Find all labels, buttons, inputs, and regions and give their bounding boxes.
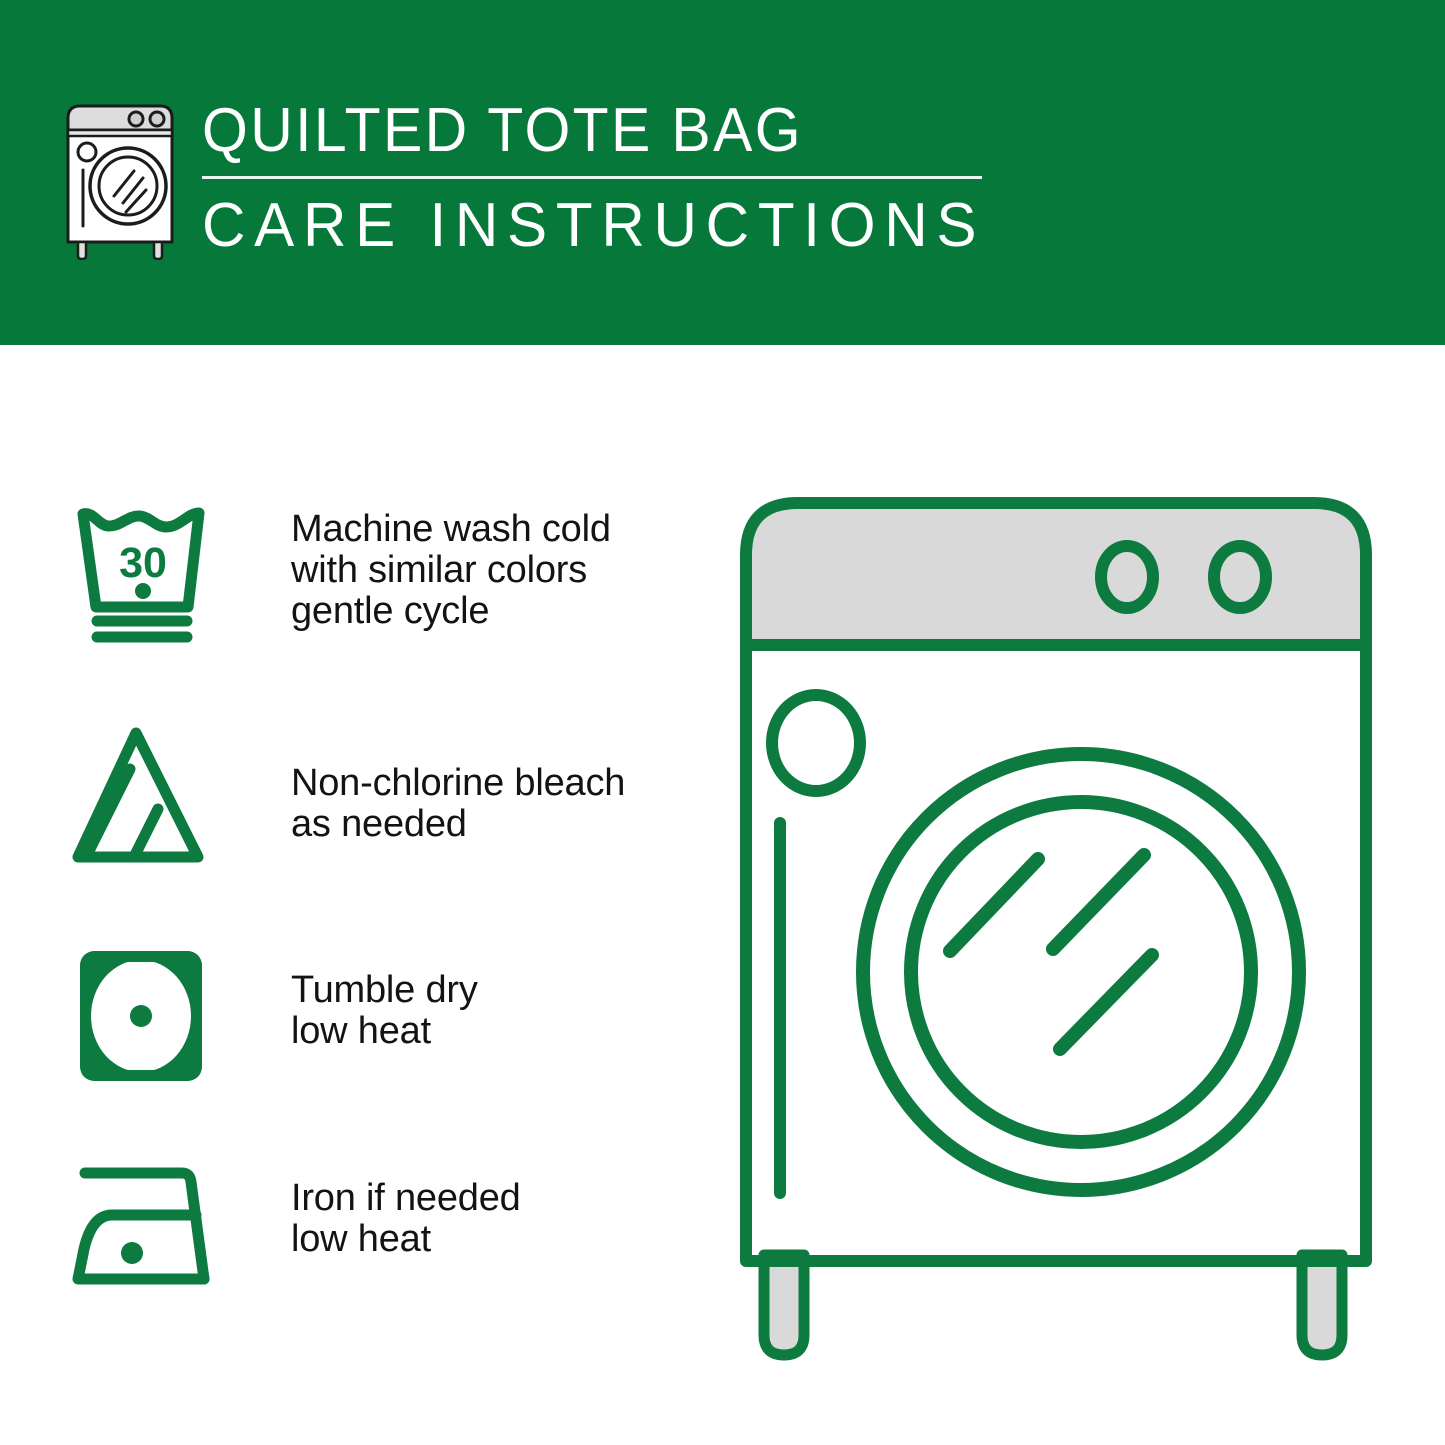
page-title: QUILTED TOTE BAG (202, 96, 969, 166)
control-panel (746, 503, 1366, 645)
washing-machine-icon (62, 100, 180, 260)
header-content: QUILTED TOTE BAG CARE INSTRUCTIONS (62, 96, 1009, 261)
iron-low-heat-icon (70, 1153, 225, 1303)
door-outer-ring (863, 754, 1299, 1190)
care-text: Non-chlorine bleach as needed (291, 763, 625, 845)
care-text: Tumble dry low heat (291, 970, 478, 1052)
door-shine-lines (950, 855, 1152, 1049)
page-subtitle: CARE INSTRUCTIONS (202, 191, 985, 261)
detergent-port (772, 695, 860, 791)
wash-temperature-label: 30 (119, 539, 167, 587)
leg-left (764, 1255, 804, 1355)
care-text: Machine wash cold with similar colors ge… (291, 509, 611, 632)
care-row: Non-chlorine bleach as needed (70, 721, 690, 871)
care-row: Iron if needed low heat (70, 1153, 690, 1303)
tumble-dry-low-icon (70, 943, 225, 1093)
triangle-non-chlorine-bleach-icon (70, 721, 225, 871)
care-instruction-list: 30 Machine wash cold with similar colors… (0, 345, 722, 1445)
title-divider (202, 176, 982, 179)
care-row: Tumble dry low heat (70, 943, 690, 1093)
door-inner-ring (911, 802, 1251, 1142)
care-row: 30 Machine wash cold with similar colors… (70, 495, 690, 645)
front-load-washing-machine-illustration (706, 455, 1416, 1395)
care-text: Iron if needed low heat (291, 1178, 521, 1260)
header-title-group: QUILTED TOTE BAG CARE INSTRUCTIONS (202, 96, 1009, 261)
leg-right (1302, 1255, 1342, 1355)
wash-tub-30-icon: 30 (70, 495, 225, 645)
care-instructions-page: QUILTED TOTE BAG CARE INSTRUCTIONS 30 Ma… (0, 0, 1445, 1445)
